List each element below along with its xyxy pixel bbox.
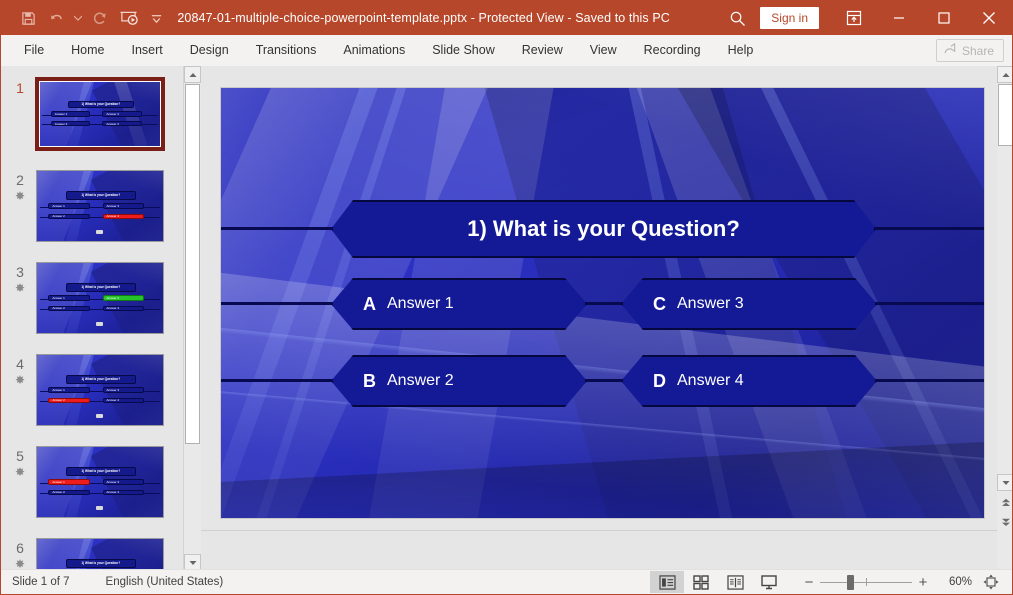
zoom-slider-tick xyxy=(866,578,867,586)
thumbnail-frame[interactable]: 1) What is your Question? Answer 1 Answe… xyxy=(36,170,164,242)
next-slide-button[interactable] xyxy=(997,514,1013,531)
slide-indicator[interactable]: Slide 1 of 7 xyxy=(12,576,70,588)
document-title: 20847-01-multiple-choice-powerpoint-temp… xyxy=(169,11,718,25)
thumbnail-frame[interactable]: 1) What is your Question? Answer 1 Answe… xyxy=(36,354,164,426)
thumb-nav-button xyxy=(96,506,103,510)
thumb-question-text: 1) What is your Question? xyxy=(82,469,121,473)
share-label: Share xyxy=(962,44,994,58)
scroll-down-arrow-icon[interactable] xyxy=(997,474,1013,491)
reading-view-button[interactable] xyxy=(718,571,752,593)
maximize-icon[interactable] xyxy=(921,1,966,35)
animation-star-icon: ✸ xyxy=(10,190,30,202)
title-bar-controls: Sign in xyxy=(718,1,1013,35)
thumb-answer-a: Answer 1 xyxy=(52,388,65,392)
thumb-answer-d: Answer 4 xyxy=(107,214,120,218)
tab-help[interactable]: Help xyxy=(715,37,767,64)
undo-icon[interactable] xyxy=(43,5,69,31)
redo-icon[interactable] xyxy=(87,5,113,31)
answer-letter-b: B xyxy=(363,371,387,392)
thumb-nav-button xyxy=(96,230,103,234)
answer-text-c: Answer 3 xyxy=(677,295,744,313)
thumb-answer-c: Answer 3 xyxy=(106,112,119,116)
thumb-answer-d: Answer 4 xyxy=(106,122,119,126)
thumbnail-number: 1 xyxy=(9,80,31,96)
tab-view[interactable]: View xyxy=(577,37,630,64)
customize-quick-access-toolbar-icon[interactable] xyxy=(143,5,169,31)
thumb-answer-a: Answer 1 xyxy=(52,296,65,300)
thumbnail-slide-6[interactable]: 6 ✸ 1) What is your Question? Answer 1 A… xyxy=(1,538,183,571)
answer-text-b: Answer 2 xyxy=(387,372,454,390)
animation-star-icon: ✸ xyxy=(10,374,30,386)
zoom-level-label[interactable]: 60% xyxy=(938,576,972,588)
zoom-slider[interactable] xyxy=(820,571,912,593)
powerpoint-window: 20847-01-multiple-choice-powerpoint-temp… xyxy=(0,0,1013,595)
undo-dropdown-icon[interactable] xyxy=(71,5,85,31)
thumb-answer-a: Answer 1 xyxy=(55,112,68,116)
question-text: 1) What is your Question? xyxy=(467,216,740,242)
scroll-up-arrow-icon[interactable] xyxy=(997,66,1013,83)
thumb-answer-a: Answer 1 xyxy=(52,480,65,484)
workspace: 1 1) What is your Question? Answer xyxy=(1,66,1013,571)
thumb-question-text: 1) What is your Question? xyxy=(82,561,121,565)
thumb-question-text: 1) What is your Question? xyxy=(82,285,121,289)
question-box[interactable]: 1) What is your Question? xyxy=(331,200,876,258)
title-bar: 20847-01-multiple-choice-powerpoint-temp… xyxy=(1,1,1013,35)
thumb-answer-d: Answer 4 xyxy=(107,306,120,310)
thumbnail-slide-3[interactable]: 3 ✸ 1) What is your Question? Answer 1 xyxy=(1,262,183,353)
thumbnail-number: 3 xyxy=(9,264,31,280)
slide-sorter-view-button[interactable] xyxy=(684,571,718,593)
thumbnail-slide-4[interactable]: 4 ✸ 1) What is your Question? Answer 1 xyxy=(1,354,183,445)
tab-file[interactable]: File xyxy=(11,37,57,64)
thumbnail-frame[interactable]: 1) What is your Question? Answer 1 Answe… xyxy=(36,446,164,518)
thumb-answer-b: Answer 2 xyxy=(52,398,65,402)
scroll-up-arrow-icon[interactable] xyxy=(184,66,201,83)
tab-animations[interactable]: Animations xyxy=(330,37,418,64)
sign-in-button[interactable]: Sign in xyxy=(760,7,819,29)
zoom-in-button[interactable]: + xyxy=(912,571,934,593)
zoom-slider-knob[interactable] xyxy=(847,575,854,590)
status-bar: Slide 1 of 7 English (United States) − xyxy=(1,569,1012,594)
thumb-nav-button xyxy=(96,414,103,418)
thumb-answer-c: Answer 3 xyxy=(107,204,120,208)
answer-box-c[interactable]: C Answer 3 xyxy=(621,278,877,330)
thumbnail-slide-1[interactable]: 1 1) What is your Question? Answer xyxy=(1,78,183,169)
animation-star-icon: ✸ xyxy=(10,282,30,294)
share-button[interactable]: Share xyxy=(936,39,1004,62)
thumb-answer-a: Answer 1 xyxy=(52,204,65,208)
thumb-question-text: 1) What is your Question? xyxy=(82,102,121,106)
fit-slide-to-window-icon[interactable] xyxy=(978,571,1004,593)
share-icon xyxy=(944,43,957,58)
thumbnail-frame[interactable]: 1) What is your Question? Answer 1 Answe… xyxy=(36,262,164,334)
thumbnail-number: 6 xyxy=(9,540,31,556)
ribbon-display-options-icon[interactable] xyxy=(831,1,876,35)
thumb-answer-c: Answer 3 xyxy=(107,296,120,300)
answer-letter-a: A xyxy=(363,294,387,315)
answer-box-d[interactable]: D Answer 4 xyxy=(621,355,877,407)
thumb-answer-d: Answer 4 xyxy=(107,398,120,402)
thumb-answer-d: Answer 4 xyxy=(107,490,120,494)
minimize-icon[interactable] xyxy=(876,1,921,35)
thumb-answer-b: Answer 2 xyxy=(55,122,68,126)
answer-text-a: Answer 1 xyxy=(387,295,454,313)
save-icon[interactable] xyxy=(15,5,41,31)
scrollbar-thumb[interactable] xyxy=(185,84,200,444)
thumbnail-slide-5[interactable]: 5 ✸ 1) What is your Question? Answer 1 xyxy=(1,446,183,537)
thumbnail-number: 4 xyxy=(9,356,31,372)
answer-box-b[interactable]: B Answer 2 xyxy=(331,355,587,407)
tab-insert[interactable]: Insert xyxy=(119,37,176,64)
thumb-answer-c: Answer 3 xyxy=(107,388,120,392)
thumbnail-number: 2 xyxy=(9,172,31,188)
tab-slide-show[interactable]: Slide Show xyxy=(419,37,508,64)
status-bar-right: − + 60% xyxy=(650,570,1012,594)
current-slide-canvas[interactable]: 1) What is your Question? A Answer 1 B A… xyxy=(221,88,984,518)
tab-design[interactable]: Design xyxy=(177,37,242,64)
scrollbar-thumb[interactable] xyxy=(998,84,1013,146)
slide-show-button[interactable] xyxy=(752,571,786,593)
slide-area-scrollbar[interactable] xyxy=(997,66,1013,571)
tab-recording[interactable]: Recording xyxy=(631,37,714,64)
tab-transitions[interactable]: Transitions xyxy=(243,37,330,64)
thumb-question-text: 1) What is your Question? xyxy=(82,193,121,197)
quick-access-toolbar xyxy=(1,1,169,35)
answer-letter-d: D xyxy=(653,371,677,392)
slide-thumbnail-pane[interactable]: 1 1) What is your Question? Answer xyxy=(1,66,183,571)
thumbnail-frame[interactable]: 1) What is your Question? Answer 1 Answe… xyxy=(36,78,164,150)
start-presentation-icon[interactable] xyxy=(115,5,141,31)
thumbnail-frame[interactable]: 1) What is your Question? Answer 1 Answe… xyxy=(36,538,164,571)
previous-slide-button[interactable] xyxy=(997,494,1013,511)
zoom-out-button[interactable]: − xyxy=(798,571,820,593)
thumb-question-text: 1) What is your Question? xyxy=(82,377,121,381)
answer-letter-c: C xyxy=(653,294,677,315)
animation-star-icon: ✸ xyxy=(10,466,30,478)
language-indicator[interactable]: English (United States) xyxy=(106,576,224,588)
thumbnail-pane-scrollbar[interactable] xyxy=(183,66,201,571)
thumb-answer-c: Answer 3 xyxy=(107,480,120,484)
answer-text-d: Answer 4 xyxy=(677,372,744,390)
thumb-nav-button xyxy=(96,322,103,326)
search-icon[interactable] xyxy=(718,1,756,35)
thumb-answer-b: Answer 2 xyxy=(52,214,65,218)
tab-home[interactable]: Home xyxy=(58,37,117,64)
notes-pane-divider xyxy=(201,530,997,531)
thumbnail-slide-2[interactable]: 2 ✸ 1) What is your Question? Answer 1 xyxy=(1,170,183,261)
zoom-control: − + 60% xyxy=(798,571,1004,593)
answer-box-a[interactable]: A Answer 1 xyxy=(331,278,587,330)
slide-editing-area: 1) What is your Question? A Answer 1 B A… xyxy=(201,66,990,571)
close-icon[interactable] xyxy=(966,1,1012,35)
ribbon-tab-bar: File Home Insert Design Transitions Anim… xyxy=(1,35,1013,66)
thumb-answer-b: Answer 2 xyxy=(52,306,65,310)
normal-view-button[interactable] xyxy=(650,571,684,593)
thumbnail-number: 5 xyxy=(9,448,31,464)
tab-review[interactable]: Review xyxy=(509,37,576,64)
thumb-answer-b: Answer 2 xyxy=(52,490,65,494)
